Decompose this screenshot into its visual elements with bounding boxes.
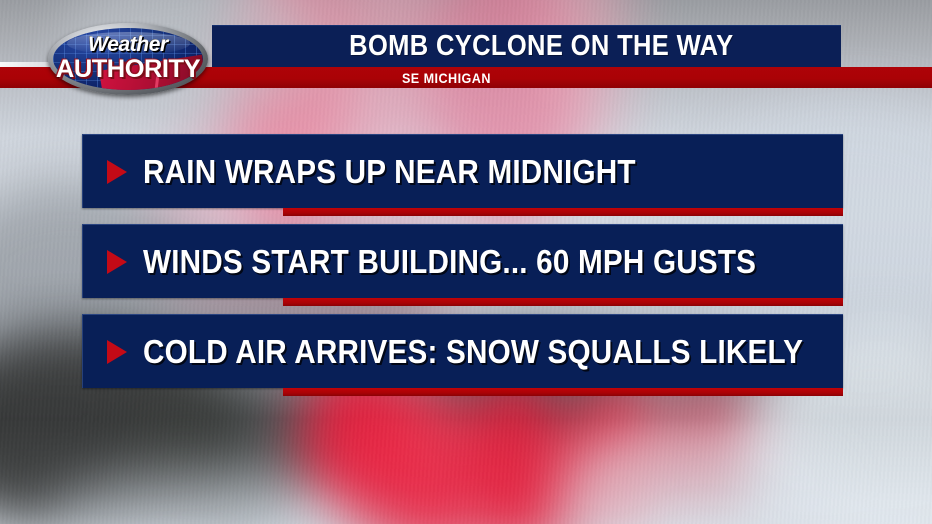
triangle-right-icon [107, 160, 127, 184]
page-title: BOMB CYCLONE ON THE WAY [319, 30, 733, 63]
bullet-text-2: WINDS START BUILDING... 60 MPH GUSTS [143, 243, 756, 281]
triangle-right-icon [107, 250, 127, 274]
triangle-right-icon [107, 340, 127, 364]
bullet-underline-2 [283, 298, 843, 306]
bullet-text-1: RAIN WRAPS UP NEAR MIDNIGHT [143, 153, 636, 191]
logo-word-authority: AUTHORITY [46, 55, 209, 84]
bullet-text-3: COLD AIR ARRIVES: SNOW SQUALLS LIKELY [143, 333, 803, 371]
weather-graphic-stage: BOMB CYCLONE ON THE WAY SE MICHIGAN Weat… [0, 0, 932, 524]
header-banner: BOMB CYCLONE ON THE WAY [212, 25, 841, 67]
logo-word-weather: Weather [48, 33, 208, 57]
bullet-underline-1 [283, 208, 843, 216]
bullet-item-1: RAIN WRAPS UP NEAR MIDNIGHT [82, 134, 843, 208]
bullet-item-2: WINDS START BUILDING... 60 MPH GUSTS [82, 224, 843, 298]
bullet-underline-3 [283, 388, 843, 396]
bullet-item-3: COLD AIR ARRIVES: SNOW SQUALLS LIKELY [82, 314, 843, 388]
weather-authority-logo: Weather AUTHORITY [48, 23, 208, 95]
header-subtitle: SE MICHIGAN [402, 70, 491, 86]
